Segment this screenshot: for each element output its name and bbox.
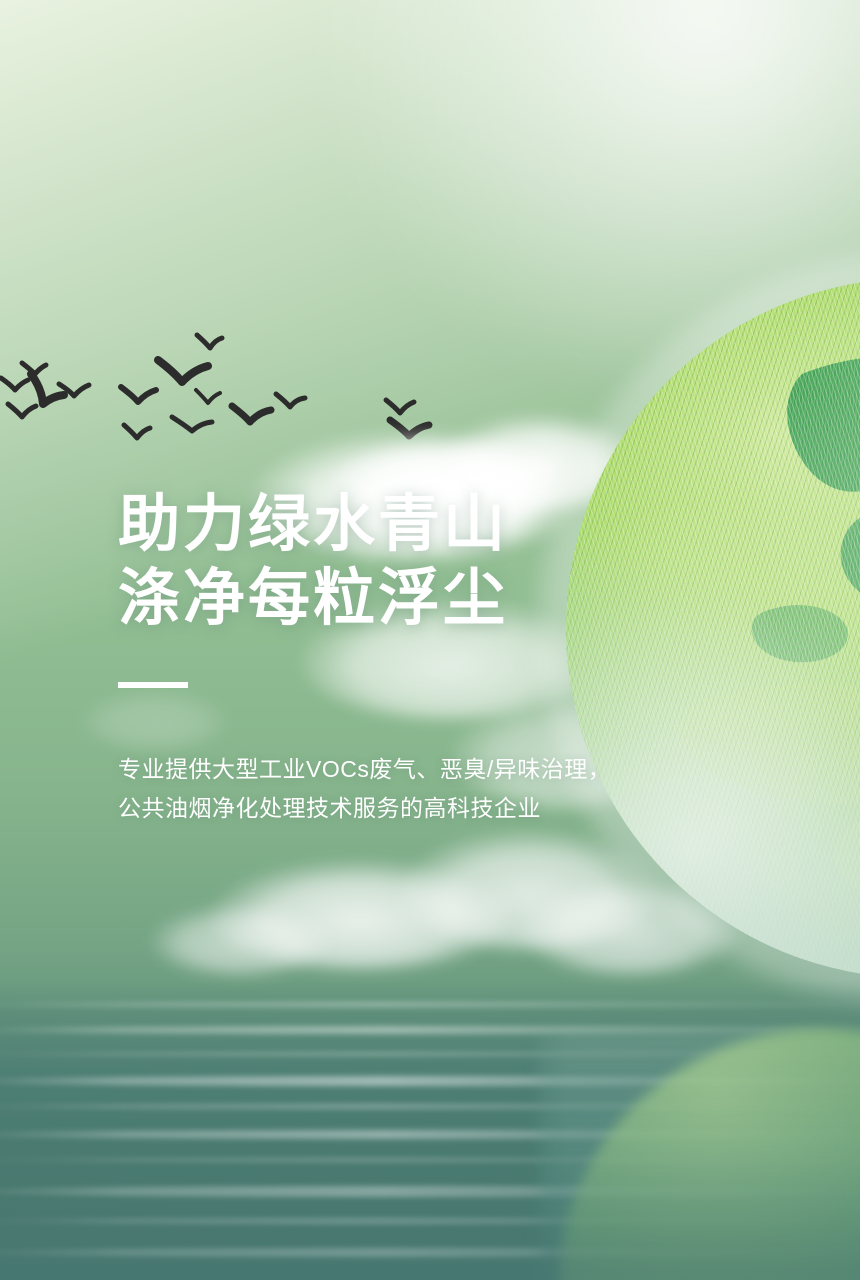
subtitle-line-2: 公共油烟净化处理技术服务的高科技企业 [118, 789, 678, 828]
cloud [210, 860, 510, 970]
white-rule-divider [118, 682, 188, 688]
eco-marketing-poster: 助力绿水青山 涤净每粒浮尘 专业提供大型工业VOCs废气、恶臭/异味治理， 公共… [0, 0, 860, 1280]
poster-text-block: 助力绿水青山 涤净每粒浮尘 专业提供大型工业VOCs废气、恶臭/异味治理， 公共… [118, 488, 678, 828]
subtitle-line-1: 专业提供大型工业VOCs废气、恶臭/异味治理， [118, 750, 678, 789]
cloud [150, 905, 330, 975]
headline-line-2: 涤净每粒浮尘 [118, 562, 678, 636]
water-depth-overlay [0, 980, 860, 1280]
flying-birds-flock [0, 330, 470, 460]
headline-line-1: 助力绿水青山 [118, 488, 678, 562]
